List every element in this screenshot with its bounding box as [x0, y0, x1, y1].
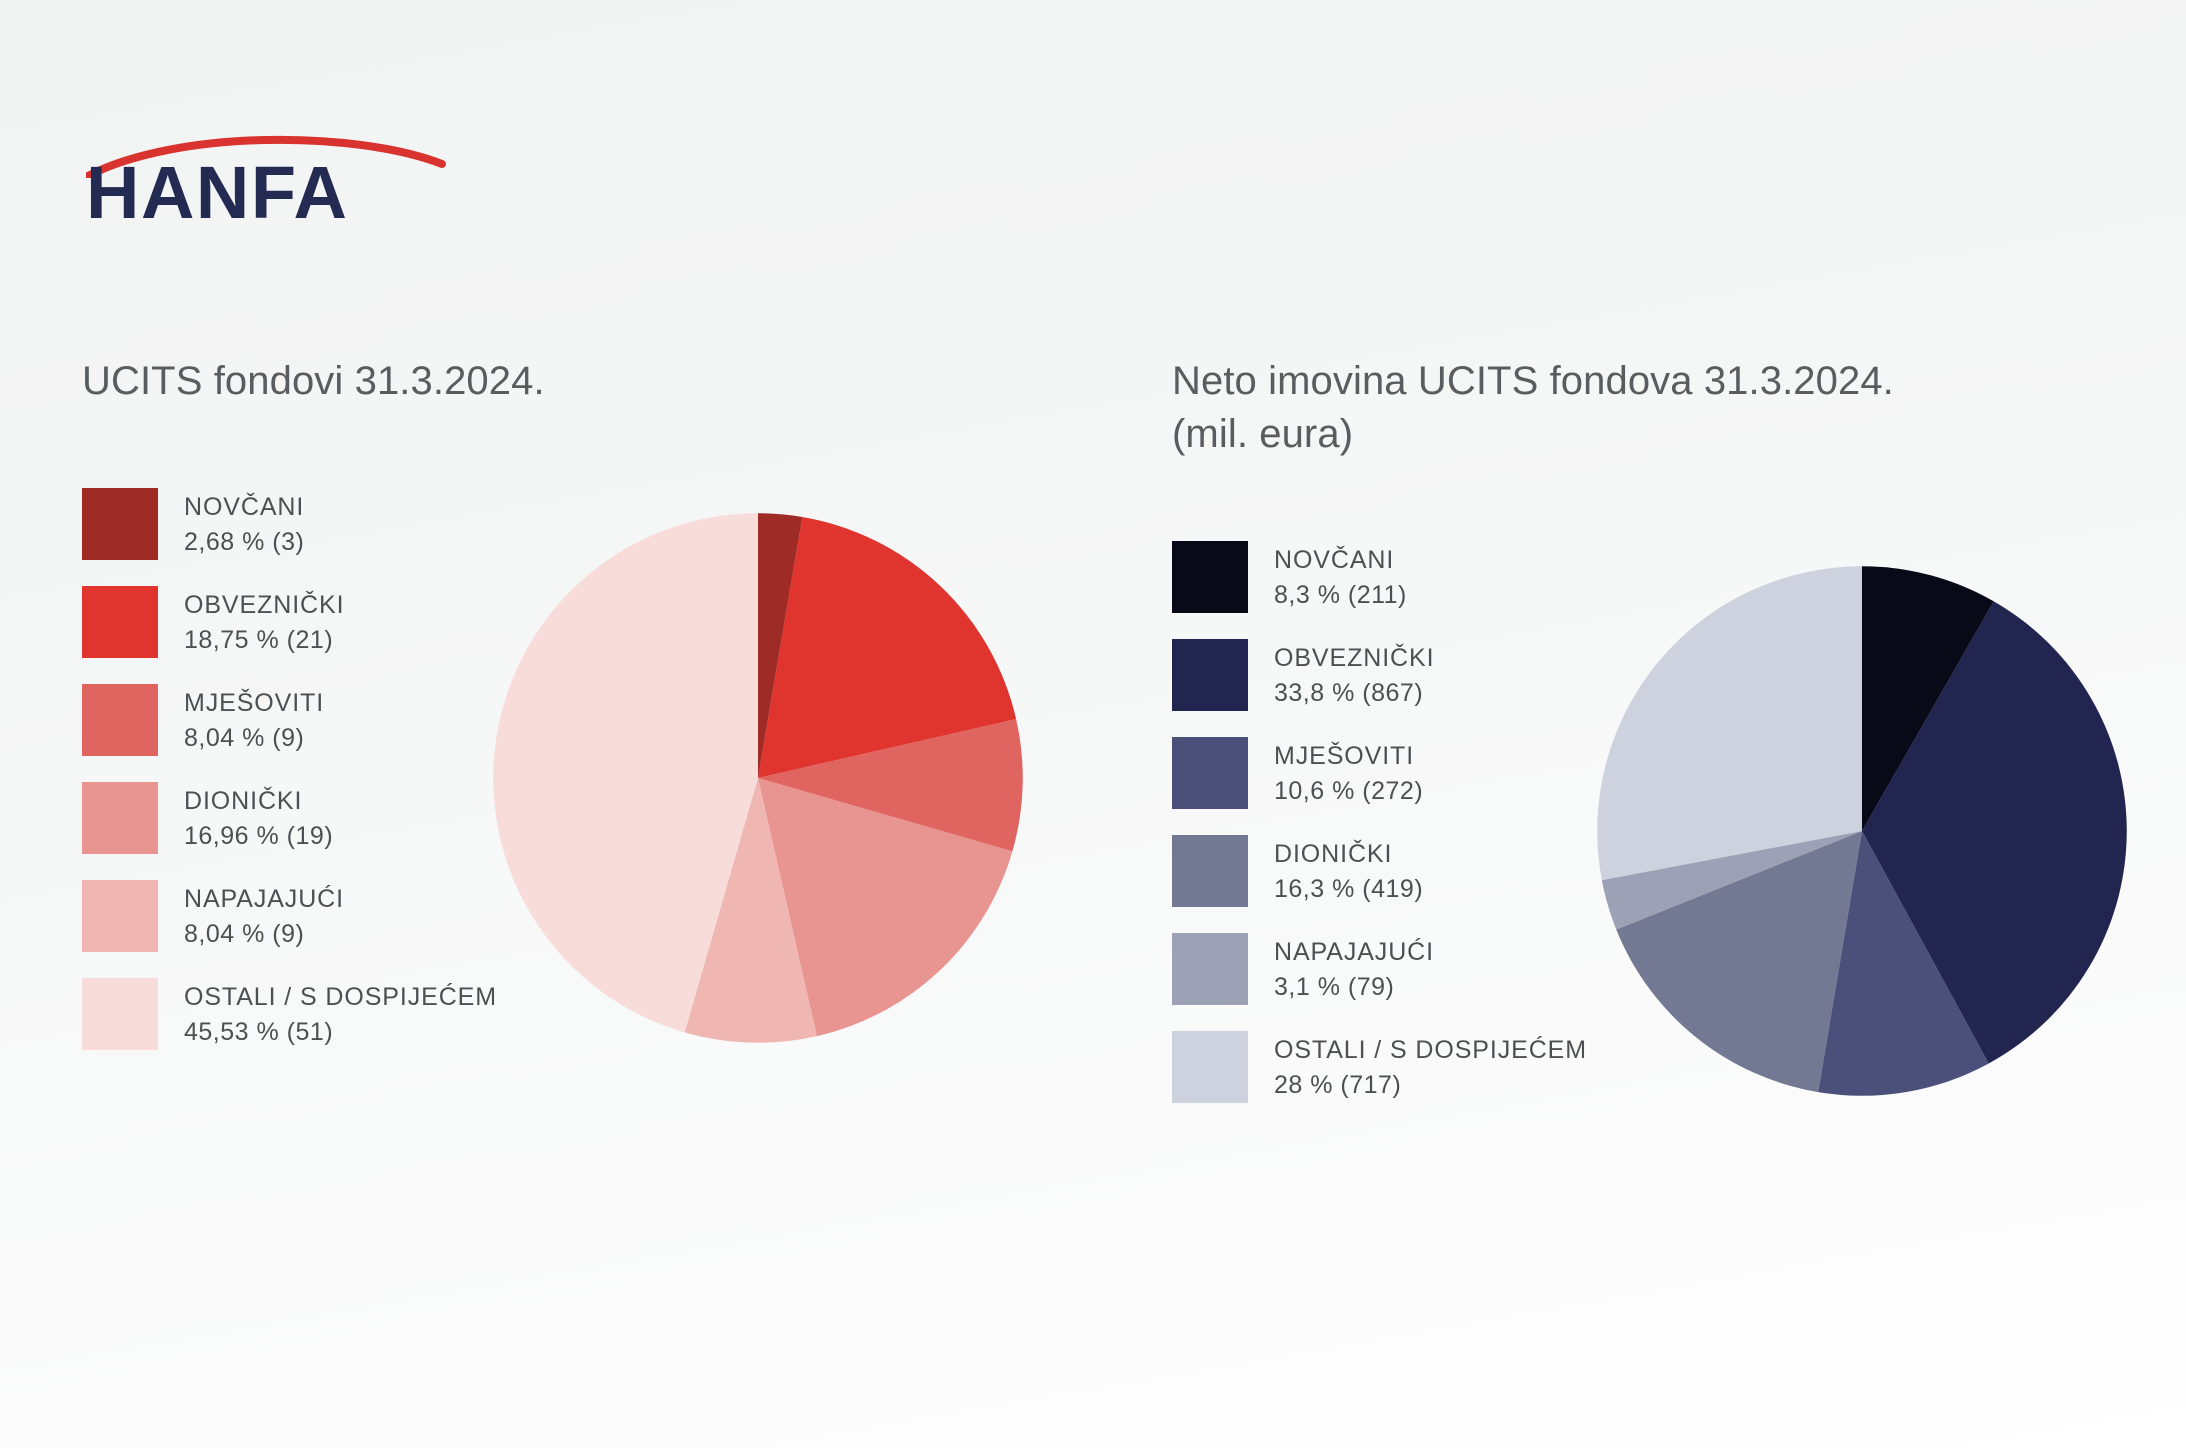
legend-label: OSTALI / S DOSPIJEĆEM — [184, 983, 497, 1011]
legend-swatch-napajajuci — [1172, 933, 1248, 1005]
hanfa-logo: HANFA — [86, 128, 446, 236]
legend-swatch-novcani — [1172, 541, 1248, 613]
legend-value: 16,3 % (419) — [1274, 875, 1423, 903]
chart-panel-ucits-fondovi: UCITS fondovi 31.3.2024. NOVČANI 2,68 % … — [82, 355, 1082, 1128]
legend-label: NOVČANI — [1274, 546, 1394, 574]
pie-chart-ucits-fondovi — [480, 500, 1036, 1056]
legend-value: 18,75 % (21) — [184, 626, 333, 654]
pie-chart-neto-imovina — [1584, 553, 2140, 1109]
legend-value: 8,04 % (9) — [184, 920, 304, 948]
chart-body-left: NOVČANI 2,68 % (3) OBVEZNIČKI 18,75 % (2… — [82, 488, 1082, 1128]
legend-label: DIONIČKI — [1274, 840, 1392, 868]
legend-value: 45,53 % (51) — [184, 1018, 333, 1046]
legend-swatch-ostali — [1172, 1031, 1248, 1103]
chart-body-right: NOVČANI 8,3 % (211) OBVEZNIČKI 33,8 % (8… — [1172, 541, 2172, 1181]
legend-swatch-dionicki — [82, 782, 158, 854]
legend-label: MJEŠOVITI — [1274, 742, 1414, 770]
legend-swatch-mjesoviti — [1172, 737, 1248, 809]
legend-swatch-ostali — [82, 978, 158, 1050]
legend-swatch-mjesoviti — [82, 684, 158, 756]
legend-label: MJEŠOVITI — [184, 689, 324, 717]
legend-swatch-obveznicki — [1172, 639, 1248, 711]
legend-label: NOVČANI — [184, 493, 304, 521]
legend-label: OBVEZNIČKI — [1274, 644, 1434, 672]
legend-label: NAPAJAJUĆI — [184, 885, 344, 913]
legend-value: 2,68 % (3) — [184, 528, 304, 556]
legend-swatch-novcani — [82, 488, 158, 560]
legend-value: 8,04 % (9) — [184, 724, 304, 752]
legend-label: OSTALI / S DOSPIJEĆEM — [1274, 1036, 1587, 1064]
legend-swatch-obveznicki — [82, 586, 158, 658]
pie-svg — [1584, 553, 2140, 1109]
legend-value: 10,6 % (272) — [1274, 777, 1423, 805]
legend-value: 33,8 % (867) — [1274, 679, 1423, 707]
chart-title-right: Neto imovina UCITS fondova 31.3.2024. (m… — [1172, 355, 2172, 461]
chart-title-left: UCITS fondovi 31.3.2024. — [82, 355, 1082, 408]
pie-svg — [480, 500, 1036, 1056]
legend-swatch-napajajuci — [82, 880, 158, 952]
pie-slice[interactable] — [1597, 567, 1862, 881]
logo-wordmark: HANFA — [86, 156, 348, 230]
legend-value: 8,3 % (211) — [1274, 581, 1407, 609]
legend-swatch-dionicki — [1172, 835, 1248, 907]
legend-label: DIONIČKI — [184, 787, 302, 815]
legend-value: 3,1 % (79) — [1274, 973, 1394, 1001]
legend-label: OBVEZNIČKI — [184, 591, 344, 619]
legend-value: 28 % (717) — [1274, 1071, 1401, 1099]
legend-value: 16,96 % (19) — [184, 822, 333, 850]
chart-panel-neto-imovina: Neto imovina UCITS fondova 31.3.2024. (m… — [1172, 355, 2172, 1181]
legend-label: NAPAJAJUĆI — [1274, 938, 1434, 966]
